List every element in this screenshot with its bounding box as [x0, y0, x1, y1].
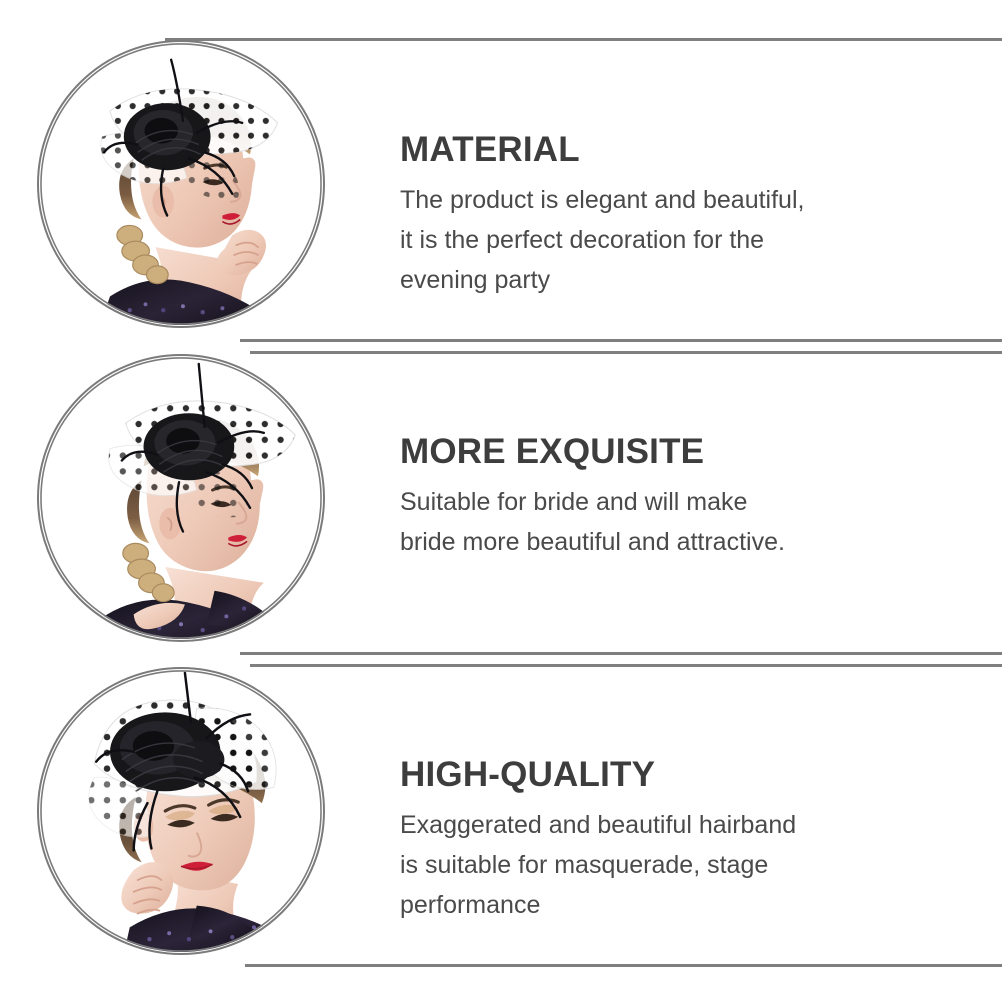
feature-text-more-exquisite: MORE EXQUISITE Suitable for bride and wi…	[400, 430, 920, 562]
model-front-three-quarter-fascinator-illustration	[39, 669, 323, 953]
feature-title-more-exquisite: MORE EXQUISITE	[400, 430, 920, 474]
feature-image-more-exquisite	[37, 354, 325, 642]
feature-row-high-quality: HIGH-QUALITY Exaggerated and beautiful h…	[0, 665, 1002, 979]
photo-clip	[39, 42, 323, 326]
feature-text-high-quality: HIGH-QUALITY Exaggerated and beautiful h…	[400, 753, 920, 925]
feature-description-material: The product is elegant and beautiful, it…	[400, 180, 920, 300]
feature-title-high-quality: HIGH-QUALITY	[400, 753, 920, 797]
model-profile-fascinator-wide-shot-illustration	[39, 356, 323, 640]
description-line: is suitable for masquerade, stage	[400, 845, 920, 885]
description-line: it is the perfect decoration for the	[400, 220, 920, 260]
feature-title-material: MATERIAL	[400, 128, 920, 172]
description-line: evening party	[400, 260, 920, 300]
photo-clip	[39, 669, 323, 953]
description-line: Exaggerated and beautiful hairband	[400, 805, 920, 845]
feature-row-material: MATERIAL The product is elegant and beau…	[0, 38, 1002, 352]
feature-image-high-quality	[37, 667, 325, 955]
feature-description-more-exquisite: Suitable for bride and will make bride m…	[400, 482, 920, 562]
description-line: bride more beautiful and attractive.	[400, 522, 920, 562]
feature-row-more-exquisite: MORE EXQUISITE Suitable for bride and wi…	[0, 352, 1002, 666]
infographic-page: MATERIAL The product is elegant and beau…	[0, 0, 1002, 1002]
feature-description-high-quality: Exaggerated and beautiful hairband is su…	[400, 805, 920, 925]
description-line: Suitable for bride and will make	[400, 482, 920, 522]
feature-text-material: MATERIAL The product is elegant and beau…	[400, 128, 920, 300]
feature-image-material	[37, 40, 325, 328]
description-line: performance	[400, 885, 920, 925]
model-profile-fascinator-hand-on-chin-illustration	[39, 42, 323, 326]
photo-clip	[39, 356, 323, 640]
description-line: The product is elegant and beautiful,	[400, 180, 920, 220]
